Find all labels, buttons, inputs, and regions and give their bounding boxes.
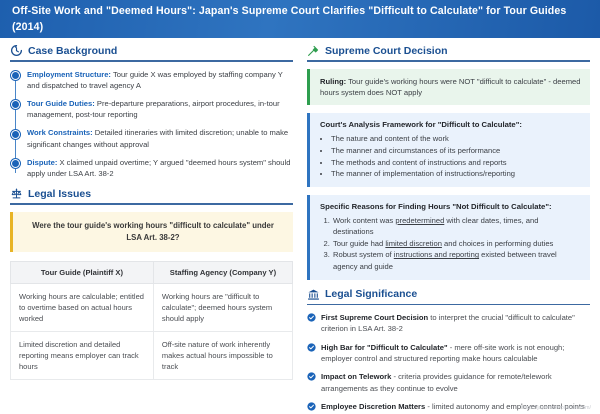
specific-reasons-list: Work content was predetermined with clea… xyxy=(332,215,581,273)
section-header-legal-significance: Legal Significance xyxy=(307,288,590,301)
section-divider xyxy=(307,60,590,62)
section-divider xyxy=(10,203,293,205)
section-header-case-background: Case Background xyxy=(10,44,293,57)
reason-pre-text: Work content was xyxy=(333,216,395,225)
section-title: Case Background xyxy=(28,45,117,57)
timeline-item: Tour Guide Duties: Pre-departure prepara… xyxy=(27,98,293,120)
left-column: Case Background Employment Structure: To… xyxy=(10,44,293,414)
gavel-icon xyxy=(307,44,320,57)
page-title: Off-Site Work and "Deemed Hours": Japan'… xyxy=(12,3,588,35)
reason-pre-text: Tour guide had xyxy=(333,239,385,248)
significance-label: High Bar for "Difficult to Calculate" xyxy=(321,343,448,352)
list-item: Impact on Telework - criteria provides g… xyxy=(307,371,590,394)
page-header: Off-Site Work and "Deemed Hours": Japan'… xyxy=(0,0,600,38)
check-circle-icon xyxy=(307,372,316,381)
list-item: Tour guide had limited discretion and ch… xyxy=(332,238,581,250)
section-title: Supreme Court Decision xyxy=(325,45,448,57)
timeline-item-label: Dispute: xyxy=(27,158,57,167)
reason-keyword: instructions and reporting xyxy=(394,250,479,259)
infographic-page: Off-Site Work and "Deemed Hours": Japan'… xyxy=(0,0,600,414)
timeline-item: Dispute: X claimed unpaid overtime; Y ar… xyxy=(27,157,293,179)
ruling-label: Ruling: xyxy=(320,77,346,86)
check-circle-icon xyxy=(307,343,316,352)
check-circle-icon xyxy=(307,402,316,411)
legal-significance-list: First Supreme Court Decision to interpre… xyxy=(307,312,590,414)
significance-label: First Supreme Court Decision xyxy=(321,313,428,322)
list-item: Robust system of instructions and report… xyxy=(332,249,581,272)
section-title: Legal Issues xyxy=(28,188,91,200)
reason-keyword: limited discretion xyxy=(385,239,442,248)
reason-post-text: and choices in performing duties xyxy=(442,239,553,248)
section-header-supreme-court-decision: Supreme Court Decision xyxy=(307,44,590,57)
list-item: The methods and content of instructions … xyxy=(331,157,581,169)
right-column: Supreme Court Decision Ruling: Tour guid… xyxy=(307,44,590,414)
ruling-callout: Ruling: Tour guide's working hours were … xyxy=(307,69,590,106)
section-header-legal-issues: Legal Issues xyxy=(10,187,293,200)
table-cell: Working hours are "difficult to calculat… xyxy=(153,283,292,331)
table-column-header: Staffing Agency (Company Y) xyxy=(153,261,292,283)
specific-reasons-caption: Specific Reasons for Finding Hours "Not … xyxy=(320,202,581,211)
analysis-framework-callout: Court's Analysis Framework for "Difficul… xyxy=(307,113,590,186)
timeline-item: Employment Structure: Tour guide X was e… xyxy=(27,69,293,91)
list-item: The manner and circumstances of its perf… xyxy=(331,145,581,157)
list-item: High Bar for "Difficult to Calculate" - … xyxy=(307,342,590,365)
list-item: The nature and content of the work xyxy=(331,133,581,145)
analysis-framework-list: The nature and content of the work The m… xyxy=(331,133,581,179)
scales-of-justice-icon xyxy=(10,187,23,200)
timeline-item-label: Tour Guide Duties: xyxy=(27,99,95,108)
section-title: Legal Significance xyxy=(325,288,417,300)
case-background-timeline: Employment Structure: Tour guide X was e… xyxy=(10,69,293,180)
reason-pre-text: Robust system of xyxy=(333,250,394,259)
section-divider xyxy=(307,304,590,306)
list-item: First Supreme Court Decision to interpre… xyxy=(307,312,590,335)
legal-question-text: Were the tour guide's working hours "dif… xyxy=(25,220,281,244)
table-cell: Off-site nature of work inherently makes… xyxy=(153,331,292,379)
classical-building-icon xyxy=(307,288,320,301)
timeline-item-label: Work Constraints: xyxy=(27,128,93,137)
timeline-item-text: X claimed unpaid overtime; Y argued "dee… xyxy=(27,158,290,178)
significance-label: Impact on Telework xyxy=(321,372,391,381)
table-cell: Working hours are calculable; entitled t… xyxy=(11,283,154,331)
reason-keyword: predetermined xyxy=(395,216,444,225)
list-item: Work content was predetermined with clea… xyxy=(332,215,581,238)
ruling-text: Tour guide's working hours were NOT "dif… xyxy=(320,77,581,97)
table-header-row: Tour Guide (Plaintiff X) Staffing Agency… xyxy=(11,261,293,283)
table-cell: Limited discretion and detailed reportin… xyxy=(11,331,154,379)
table-column-header: Tour Guide (Plaintiff X) xyxy=(11,261,154,283)
content-columns: Case Background Employment Structure: To… xyxy=(0,38,600,414)
list-item: The manner of implementation of instruct… xyxy=(331,168,581,180)
significance-label: Employee Discretion Matters xyxy=(321,402,425,411)
table-row: Limited discretion and detailed reportin… xyxy=(11,331,293,379)
table-row: Working hours are calculable; entitled t… xyxy=(11,283,293,331)
legal-question-box: Were the tour guide's working hours "dif… xyxy=(10,212,293,252)
section-divider xyxy=(10,60,293,62)
analysis-framework-caption: Court's Analysis Framework for "Difficul… xyxy=(320,120,581,129)
arguments-comparison-table: Tour Guide (Plaintiff X) Staffing Agency… xyxy=(10,261,293,380)
timeline-item: Work Constraints: Detailed itineraries w… xyxy=(27,127,293,149)
specific-reasons-callout: Specific Reasons for Finding Hours "Not … xyxy=(307,195,590,280)
footer-url: https://japancompliance.com/ xyxy=(521,405,591,411)
history-clock-icon xyxy=(10,44,23,57)
check-circle-icon xyxy=(307,313,316,322)
timeline-item-label: Employment Structure: xyxy=(27,70,111,79)
